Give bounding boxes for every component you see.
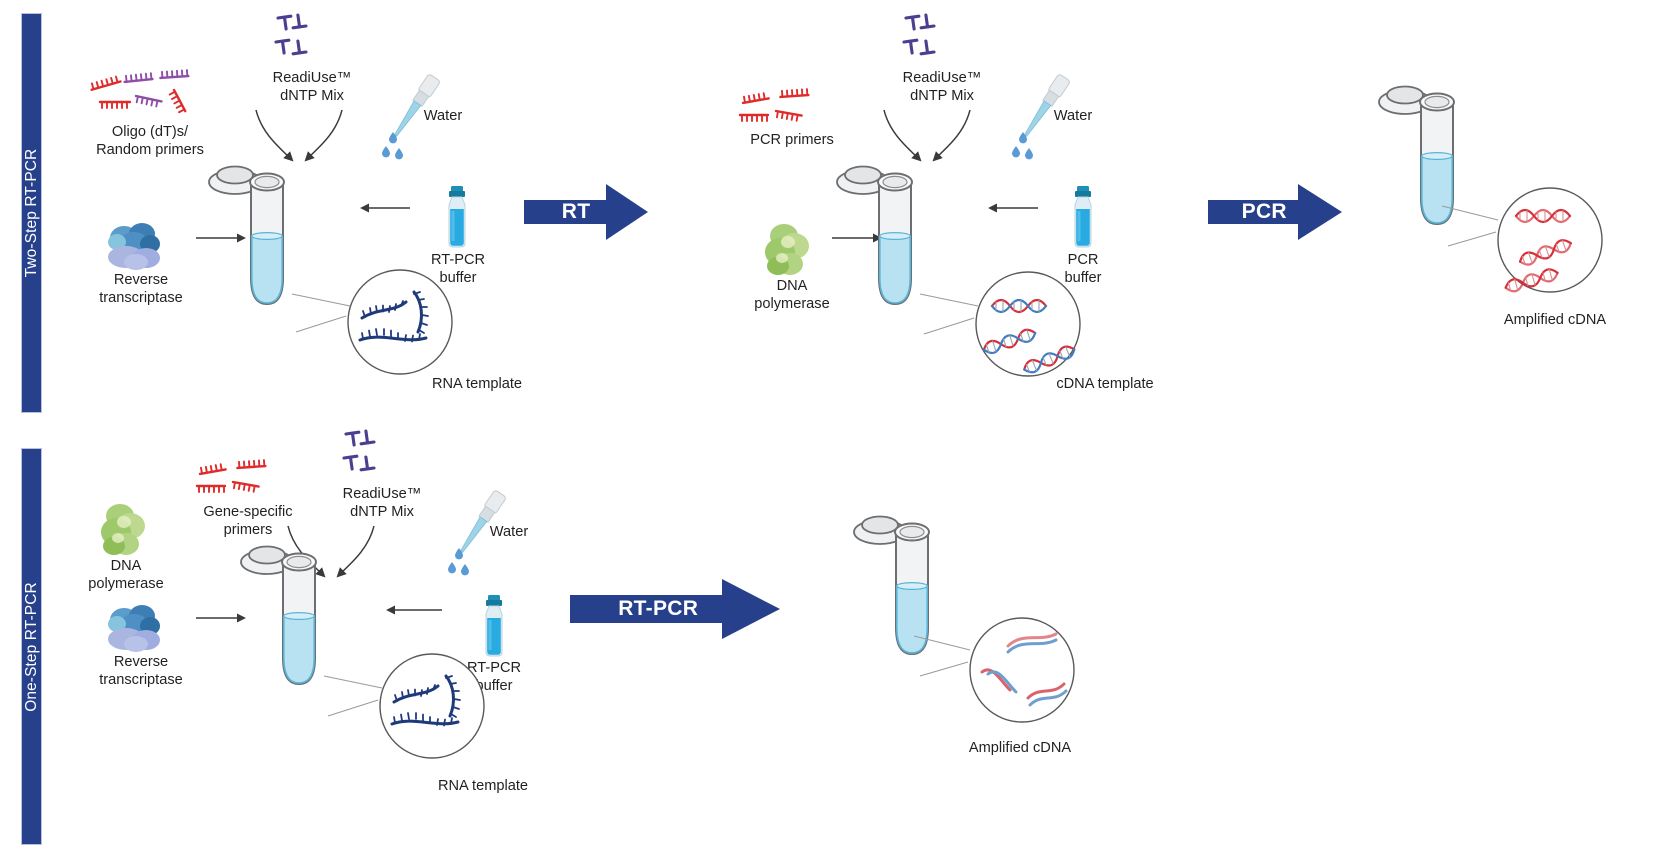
reverse-transcriptase-label-1: Reverse transcriptase [82,272,200,308]
rna-template-label-1: RNA template [412,376,542,394]
dntp-nucleotide-icon [900,12,970,66]
dntp-nucleotide-icon [340,428,410,482]
rt-pcr-buffer-group-1 [437,185,477,249]
reverse-transcriptase-label-2: Reverse transcriptase [82,654,200,690]
dna-polymerase-group-2 [94,500,156,560]
dna-polymerase-label-2: DNA polymerase [70,558,182,594]
primer-oligo-icon [740,85,836,129]
rna-template-inset-1 [290,272,480,388]
dntp-mix-group-3 [340,428,410,482]
section-bar-one-step: One-Step RT-PCR [21,448,42,845]
water-label-3: Water [474,524,544,542]
process-arrow-rt-pcr: RT-PCR [570,578,780,640]
straight-arrow-icon [352,202,410,214]
primer-oligo-icon [197,456,293,500]
process-arrow-rt-pcr-label: RT-PCR [570,578,780,640]
reverse-transcriptase-icon [100,218,180,274]
primer-oligo-icon [86,62,206,120]
dntp-mix-label-1: ReadiUse™ dNTP Mix [222,70,402,106]
process-arrow-pcr: PCR [1208,182,1342,242]
dna-polymerase-icon [758,220,820,280]
section-bar-two-step: Two-Step RT-PCR [21,13,42,413]
oligo-primers-group [86,62,206,120]
amplified-cdna-inset-bottom [912,618,1102,738]
buffer-arrow-2 [980,202,1038,214]
reverse-transcriptase-icon [100,600,180,656]
amplified-cdna-label-top: Amplified cDNA [1480,312,1630,330]
reagent-bottle-icon [437,185,477,249]
rt-pcr-buffer-group-2 [474,594,514,658]
section-label-one-step: One-Step RT-PCR [23,582,41,712]
cdna-template-inset [918,272,1108,392]
pcr-buffer-group [1063,185,1103,249]
pcr-primers-label: PCR primers [722,132,862,150]
dna-polymerase-icon [94,500,156,560]
gene-specific-primers-group [197,456,293,500]
straight-arrow-icon [380,604,442,616]
reagent-bottle-icon [474,594,514,658]
rna-template-label-2: RNA template [418,778,548,796]
water-label-1: Water [408,108,478,126]
oligo-primers-label: Oligo (dT)s/ Random primers [70,124,230,160]
dna-polymerase-label-1: DNA polymerase [738,278,846,314]
rna-template-inset-2 [322,654,512,774]
dntp-mix-group-2 [900,12,970,66]
buffer-arrow-1 [352,202,410,214]
reverse-transcriptase-group-1 [100,218,180,274]
dntp-mix-label-2: ReadiUse™ dNTP Mix [852,70,1032,106]
pcr-primers-group [740,85,836,129]
amplified-cdna-inset-top [1440,188,1630,308]
process-arrow-rt-label: RT [524,182,648,242]
figure-canvas: Two-Step RT-PCR One-Step RT-PCR [0,0,1664,868]
dntp-nucleotide-icon [272,12,342,66]
cdna-template-label: cDNA template [1040,376,1170,394]
straight-arrow-icon [980,202,1038,214]
process-arrow-pcr-label: PCR [1208,182,1342,242]
reagent-bottle-icon [1063,185,1103,249]
buffer-arrow-3 [380,604,442,616]
reverse-transcriptase-group-2 [100,600,180,656]
section-label-two-step: Two-Step RT-PCR [23,149,41,278]
dna-polymerase-group-1 [758,220,820,280]
process-arrow-rt: RT [524,182,648,242]
dntp-mix-group-1 [272,12,342,66]
amplified-cdna-label-bottom: Amplified cDNA [945,740,1095,758]
water-label-2: Water [1038,108,1108,126]
